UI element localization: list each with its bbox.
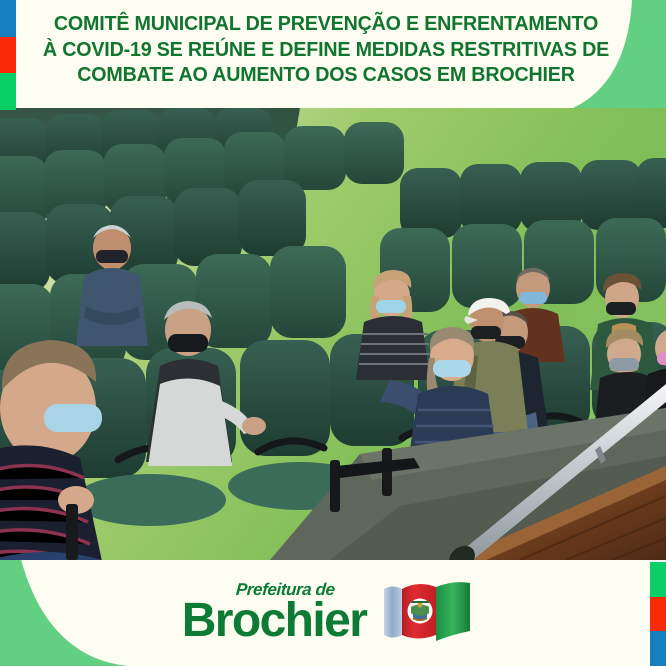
meeting-photo	[0, 108, 666, 560]
meeting-photo-illustration	[0, 108, 666, 560]
flag-bars-top-left	[0, 0, 16, 110]
flag-bar-blue	[0, 0, 16, 37]
poster-canvas: COMITÊ MUNICIPAL DE PREVENÇÃO E ENFRENTA…	[0, 0, 666, 666]
footer-logo-bar: Prefeitura de Brochier	[0, 560, 666, 666]
headline-line-1: COMITÊ MUNICIPAL DE PREVENÇÃO E ENFRENTA…	[34, 11, 618, 37]
municipal-flag-icon	[380, 581, 476, 645]
logo-wordmark: Prefeitura de Brochier	[182, 582, 367, 645]
headline-line-2: À COVID-19 SE REÚNE E DEFINE MEDIDAS RES…	[34, 37, 618, 63]
headline: COMITÊ MUNICIPAL DE PREVENÇÃO E ENFRENTA…	[22, 11, 630, 88]
flag-bar-green	[0, 73, 16, 110]
prefeitura-brochier-logo: Prefeitura de Brochier	[182, 581, 477, 645]
headline-line-3: COMBATE AO AUMENTO DOS CASOS EM BROCHIER	[34, 62, 618, 88]
flag-bar-red	[0, 37, 16, 74]
logo-city-label: Brochier	[182, 597, 367, 645]
logo-prefix-label: Prefeitura de	[235, 581, 335, 598]
